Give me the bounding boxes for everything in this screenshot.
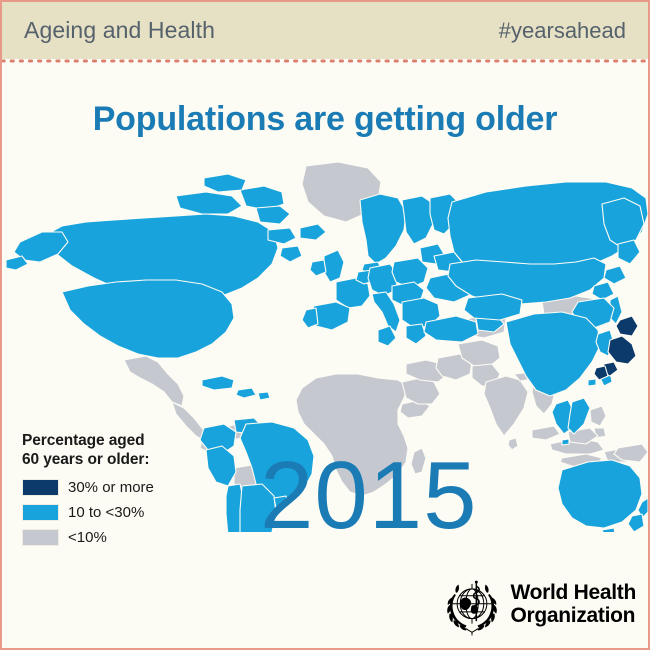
who-wordmark-line-1: World Health — [510, 582, 636, 605]
header-band: Ageing and Health #yearsahead — [2, 2, 648, 59]
year-label: 2015 — [260, 448, 478, 544]
header-title: Ageing and Health — [24, 17, 215, 44]
legend-item-mid: 10 to <30% — [22, 501, 222, 524]
legend-swatch-high — [22, 479, 59, 496]
legend-label-high: 30% or more — [68, 479, 154, 496]
who-wordmark: World Health Organization — [510, 582, 636, 627]
legend-label-low: <10% — [68, 529, 107, 546]
header-hashtag: #yearsahead — [499, 18, 626, 44]
who-wordmark-line-2: Organization — [510, 605, 636, 628]
legend-heading-line-1: Percentage aged — [22, 432, 222, 451]
legend-item-low: <10% — [22, 526, 222, 549]
legend-swatch-low — [22, 529, 59, 546]
map-legend: Percentage aged 60 years or older: 30% o… — [22, 432, 222, 551]
header-dotted-rule — [2, 59, 648, 63]
legend-rows: 30% or more 10 to <30% <10% — [22, 476, 222, 549]
legend-heading-line-2: 60 years or older: — [22, 451, 222, 470]
who-emblem-icon — [441, 574, 503, 636]
infographic-poster: Ageing and Health #yearsahead Population… — [0, 0, 650, 650]
legend-label-mid: 10 to <30% — [68, 504, 144, 521]
legend-item-high: 30% or more — [22, 476, 222, 499]
legend-swatch-mid — [22, 504, 59, 521]
who-logo: World Health Organization — [441, 574, 636, 636]
page-title: Populations are getting older — [2, 100, 648, 139]
